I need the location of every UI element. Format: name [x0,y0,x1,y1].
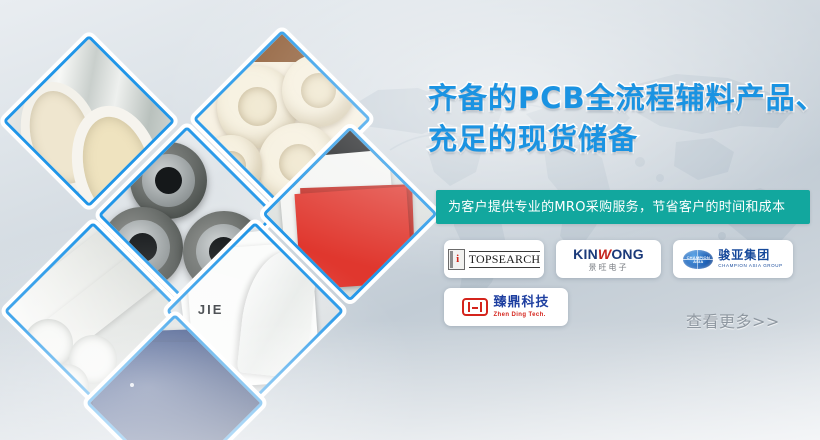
kinwong-en-part1: KIN [573,246,598,262]
partner-logo-kinwong[interactable]: KINWONG 景旺电子 [556,240,661,278]
subtitle-bar: 为客户提供专业的MRO采购服务，节省客户的时间和成本 [436,190,810,224]
topsearch-mark-letter: i [456,254,459,265]
globe-icon: CHAMPION ASIA [683,250,713,269]
partner-logo-row-1: i TOPSEARCH KINWONG 景旺电子 [444,240,804,278]
headline-line-1: 齐备的PCB全流程辅料产品、 [428,78,820,119]
zhen-ding-mark-icon [462,298,488,316]
kinwong-en-accent: W [598,246,611,262]
headline-line-2: 充足的现货储备 [428,119,820,160]
subtitle-text: 为客户提供专业的MRO采购服务，节省客户的时间和成本 [436,201,785,214]
kinwong-cn-name: 景旺电子 [588,264,628,272]
product-collage: JIE [0,0,430,440]
zhen-ding-cn-name: 臻鼎科技 [493,296,549,309]
topsearch-mark-icon: i [448,249,465,270]
partner-logo-zhen-ding[interactable]: 臻鼎科技 Zhen Ding Tech. [444,288,568,326]
topsearch-rule-bottom [469,267,541,268]
partner-logo-champion-asia[interactable]: CHAMPION ASIA 骏亚集团 CHAMPION ASIA GROUP [673,240,793,278]
kinwong-wordmark: KINWONG [573,247,644,261]
headline: 齐备的PCB全流程辅料产品、 充足的现货储备 [428,78,820,160]
hero-banner: JIE 齐备的PCB全流程辅料产品、 充足的现货储备 为客户提供专业的MRO采购… [0,0,820,440]
label-sheet-text: JIE [198,303,224,316]
globe-text: CHAMPION ASIA [683,256,713,264]
view-more-link[interactable]: 查看更多>> [686,314,780,330]
headline-block: 齐备的PCB全流程辅料产品、 充足的现货储备 [428,78,820,160]
topsearch-wordmark: TOPSEARCH [469,252,541,267]
champion-asia-en-name: CHAMPION ASIA GROUP [718,264,782,269]
partner-logo-topsearch[interactable]: i TOPSEARCH [444,240,544,278]
champion-asia-cn-name: 骏亚集团 [718,249,782,261]
zhen-ding-en-name: Zhen Ding Tech. [493,312,549,318]
kinwong-en-part2: ONG [611,246,644,262]
